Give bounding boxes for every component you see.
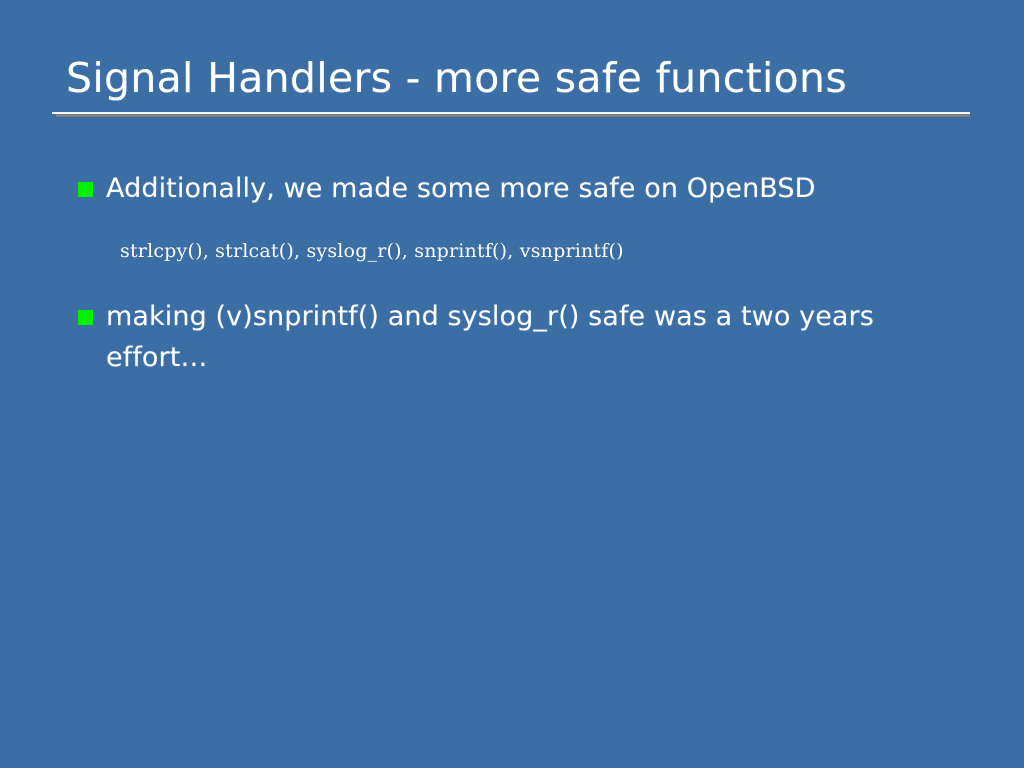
bullet-item-1-label: Additionally, we made some more safe on …: [106, 173, 816, 204]
bullet-item-2-label: making (v)snprintf() and syslog_r() safe…: [106, 296, 896, 378]
green-square-bullet-icon: [78, 310, 93, 325]
title-rule-shadow: [56, 114, 970, 117]
slide-canvas: Signal Handlers - more safe functions Ad…: [0, 0, 1024, 768]
code-function-list: strlcpy(), strlcat(), syslog_r(), snprin…: [76, 238, 976, 264]
green-square-bullet-icon: [78, 182, 93, 197]
page-title: Signal Handlers - more safe functions: [52, 52, 972, 104]
title-separator-rule: [52, 112, 970, 118]
slide-body: Additionally, we made some more safe on …: [76, 168, 976, 378]
slide-title-block: Signal Handlers - more safe functions: [52, 52, 972, 104]
bullet-item-2: making (v)snprintf() and syslog_r() safe…: [76, 296, 976, 378]
bullet-item-1: Additionally, we made some more safe on …: [76, 168, 976, 209]
